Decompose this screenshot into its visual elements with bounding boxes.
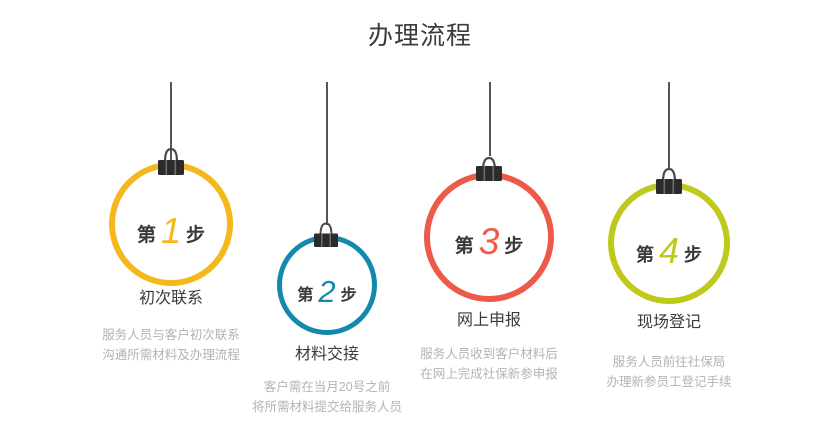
step-2-ring-label: 第2步: [277, 272, 377, 308]
binder-clip-icon-2: [310, 221, 342, 248]
step-1-ring-label: 第1步: [109, 208, 233, 250]
hanging-string-2: [326, 82, 328, 225]
step-1-desc-line1: 服务人员与客户初次联系: [71, 325, 271, 345]
step-4-ring-label: 第4步: [608, 228, 730, 270]
step-2-number: 2: [313, 274, 340, 309]
step-3-desc-line1: 服务人员收到客户材料后: [389, 344, 589, 364]
step-1-suffix: 步: [186, 225, 205, 246]
binder-clip-icon-1: [153, 146, 189, 176]
step-4-desc-line2: 办理新参员工登记手续: [569, 372, 769, 392]
flow-diagram-canvas: 办理流程 第1步 初次联系 服务人员与客户初次联系 沟通所需材料及办理流程 第2: [0, 0, 840, 443]
step-4-suffix: 步: [684, 245, 702, 265]
binder-clip-icon-4: [651, 166, 687, 196]
step-1-number: 1: [156, 210, 186, 251]
step-4-desc-line1: 服务人员前往社保局: [569, 352, 769, 372]
step-3-desc-line2: 在网上完成社保新参申报: [389, 364, 589, 384]
step-2-prefix: 第: [297, 287, 313, 304]
step-4-prefix: 第: [636, 245, 654, 265]
binder-clip-icon-3: [471, 155, 507, 185]
step-3-suffix: 步: [504, 236, 523, 257]
step-4-number: 4: [654, 230, 684, 271]
hanging-string-4: [668, 82, 670, 170]
page-title: 办理流程: [0, 20, 840, 52]
step-3-prefix: 第: [455, 236, 474, 257]
step-4-title: 现场登记: [569, 312, 769, 334]
step-3-ring-label: 第3步: [424, 219, 554, 261]
step-1-title: 初次联系: [71, 288, 271, 310]
step-3-title: 网上申报: [389, 310, 589, 332]
step-2-suffix: 步: [341, 287, 357, 304]
step-1-prefix: 第: [137, 225, 156, 246]
step-3-number: 3: [474, 221, 505, 262]
hanging-string-3: [489, 82, 491, 156]
step-2-desc-line2: 将所需材料提交给服务人员: [227, 397, 427, 417]
